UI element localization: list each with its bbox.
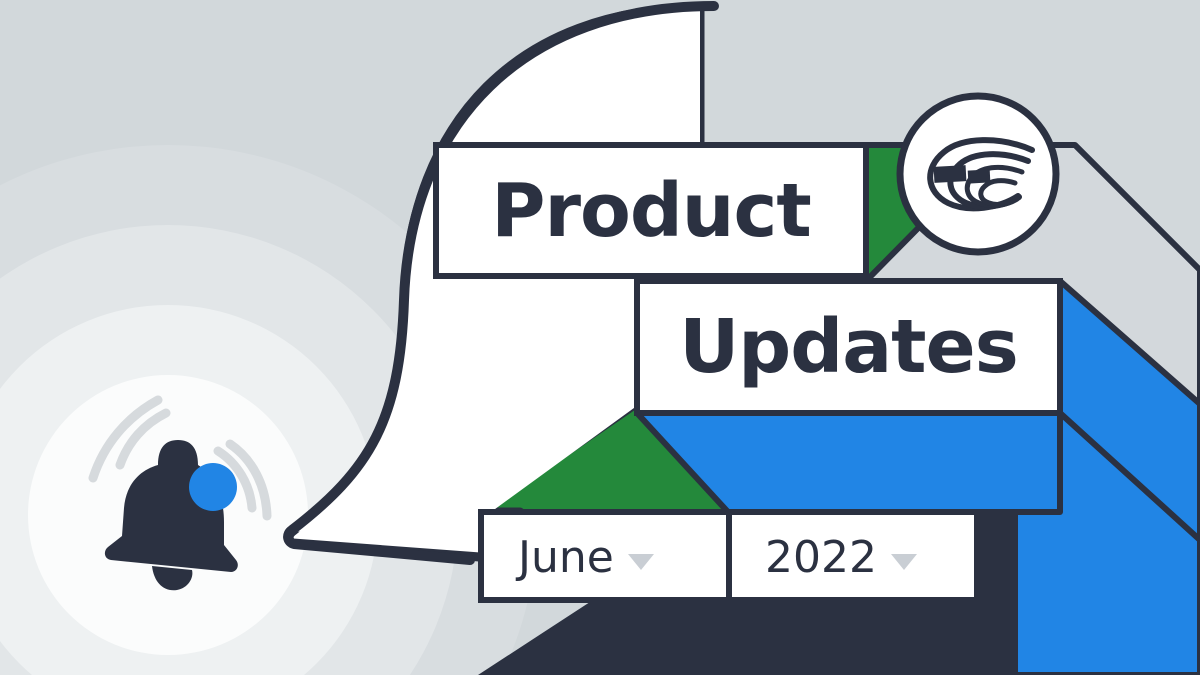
bell-notification-dot — [189, 463, 237, 511]
month-filter-label: June — [518, 532, 614, 583]
swoosh-logo-icon — [900, 96, 1056, 252]
title-box-product — [436, 145, 866, 276]
year-filter-label: 2022 — [765, 532, 877, 583]
month-filter[interactable]: June — [518, 532, 654, 583]
chevron-down-icon[interactable] — [891, 554, 917, 570]
year-filter[interactable]: 2022 — [765, 532, 917, 583]
logo-block-2 — [968, 169, 991, 183]
title-box-updates — [637, 281, 1060, 413]
product-updates-banner: Product Updates June 2022 — [0, 0, 1200, 675]
logo-block-1 — [934, 165, 967, 183]
chevron-down-icon[interactable] — [628, 554, 654, 570]
